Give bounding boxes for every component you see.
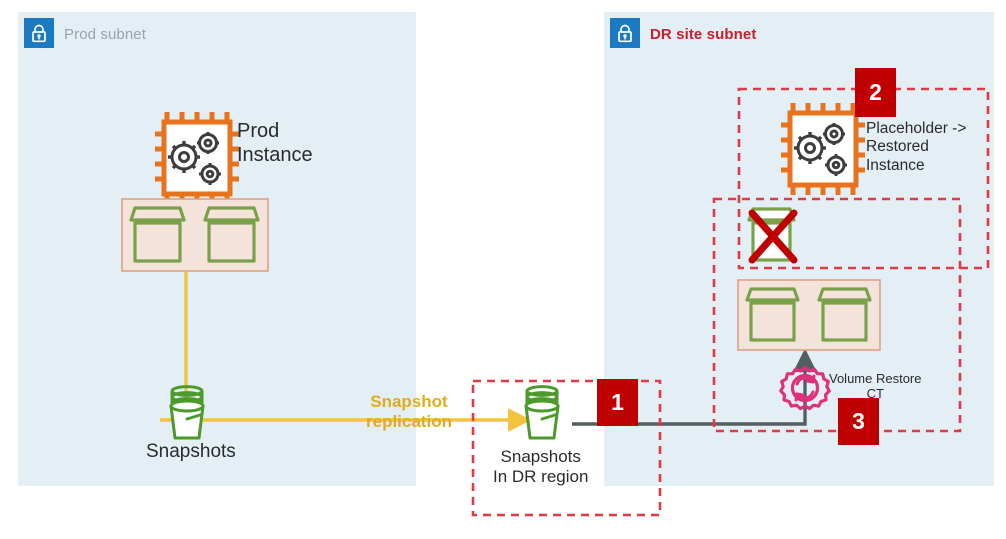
prod-subnet-title: Prod subnet [64, 26, 146, 43]
snapshot-replication-path [160, 272, 518, 420]
dr-snapshots-label: Snapshots In DR region [493, 447, 588, 487]
dr-snapshots-icon [526, 387, 558, 438]
prod-volumes-icon [122, 199, 268, 271]
prod-subnet-lock-icon [24, 18, 54, 48]
step-badge-1: 1 [597, 379, 638, 426]
snapshot-replication-label: Snapshot replication [366, 392, 452, 432]
diagram-canvas: Prod subnet DR site subnet Prod Instance… [0, 0, 1006, 539]
restored-instance-label: Placeholder -> Restored Instance [866, 120, 966, 175]
lock-icon [616, 24, 634, 43]
deleted-volume-icon [749, 209, 794, 260]
prod-instance-icon [155, 112, 239, 204]
restored-instance-icon [781, 103, 865, 195]
prod-instance-label: Prod Instance [237, 120, 313, 167]
lock-icon [30, 24, 48, 43]
dr-subnet-title: DR site subnet [650, 26, 756, 43]
step-badge-2: 2 [855, 68, 896, 117]
dr-volumes-icon [738, 280, 880, 350]
prod-snapshots-label: Snapshots [146, 441, 236, 463]
step-badge-3: 3 [838, 398, 879, 445]
prod-snapshots-icon [171, 387, 203, 438]
dr-subnet-lock-icon [610, 18, 640, 48]
